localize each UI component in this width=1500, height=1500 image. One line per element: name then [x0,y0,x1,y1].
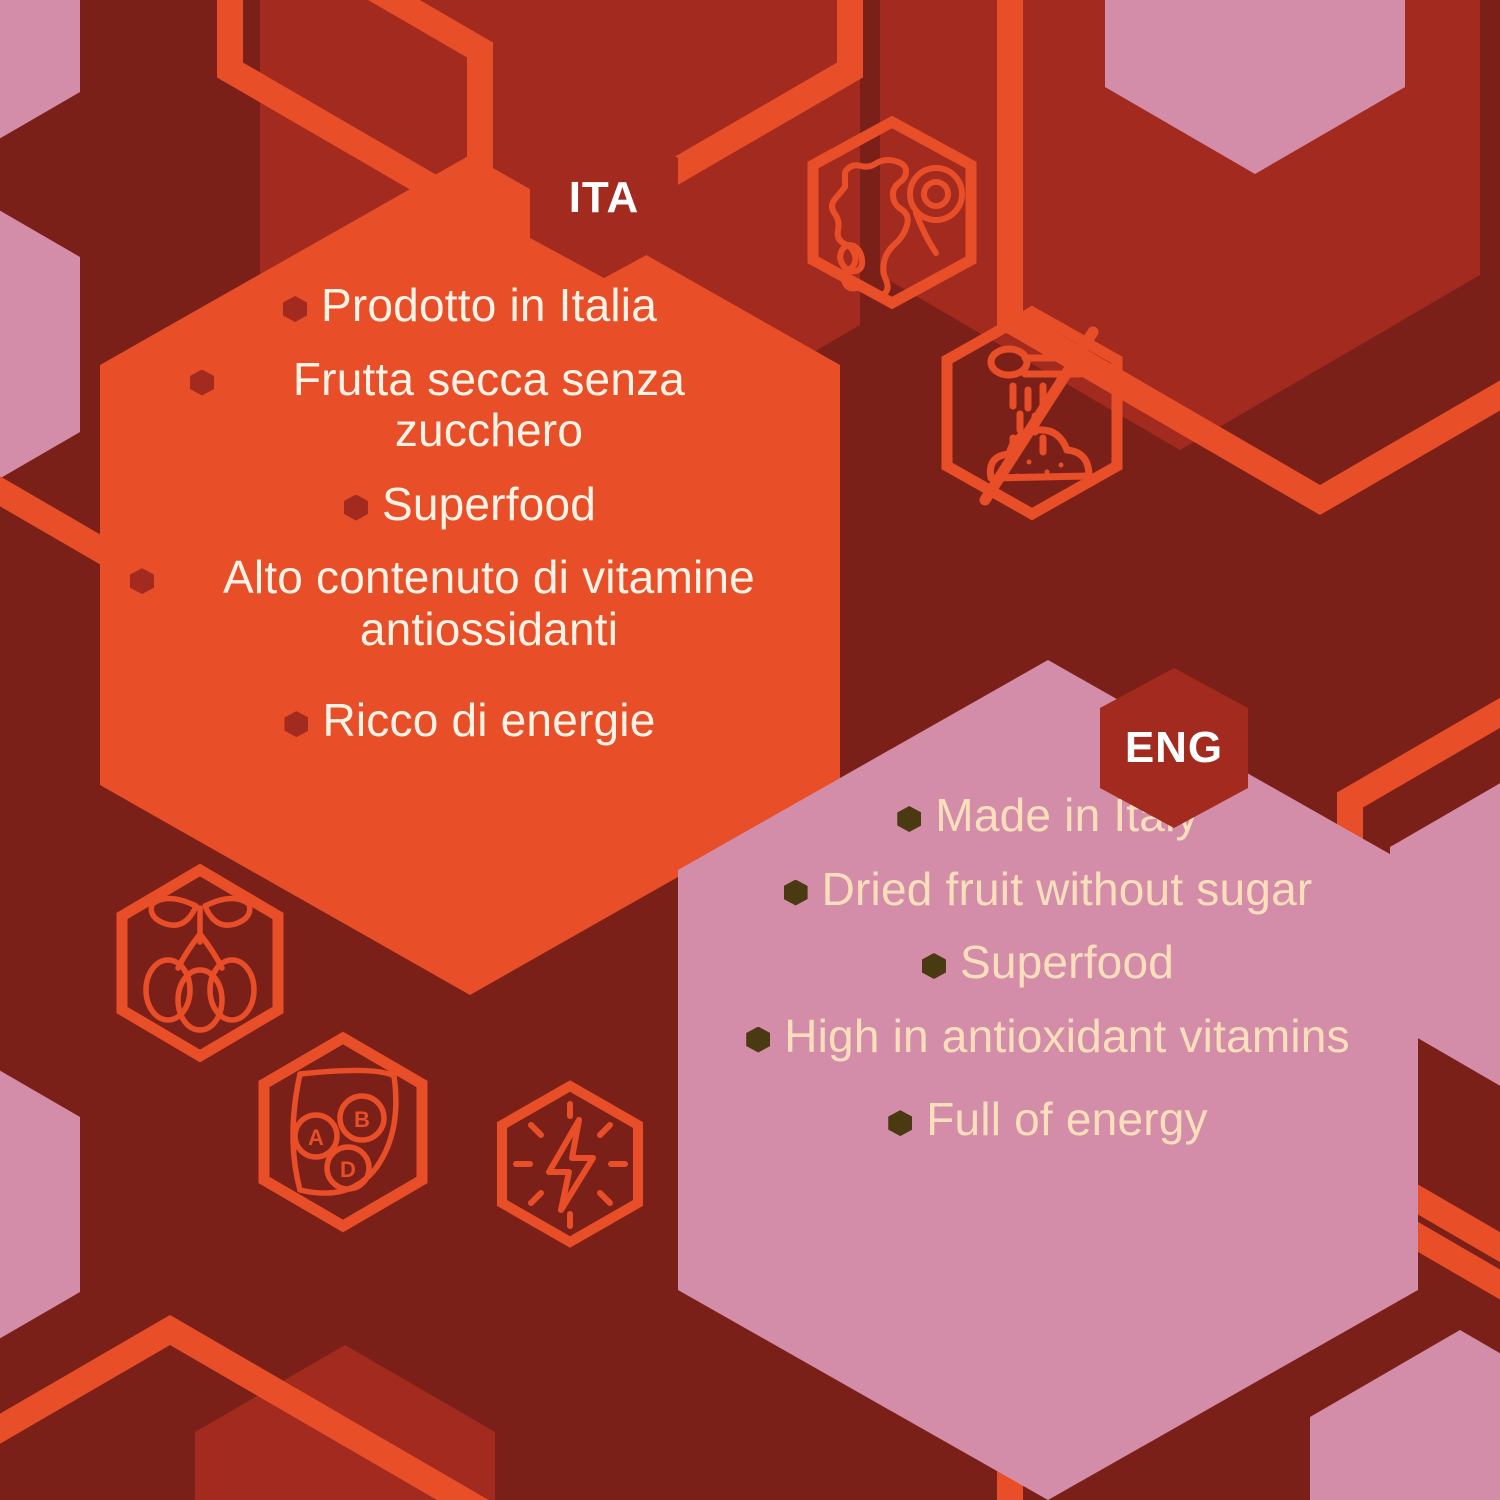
hexagon-bullet-icon [283,296,307,322]
bullet-label: Superfood [960,937,1174,989]
vitamin-letter-a: A [308,1125,324,1150]
list-item: Dried fruit without sugar [784,864,1313,916]
hexagon-bullet-icon [746,1027,770,1053]
list-item: Ricco di energie [284,695,655,747]
list-item: Superfood [344,479,596,531]
hexagon-bullet-icon [897,806,921,832]
hexagon-bullet-icon [922,953,946,979]
hexagon-bullet-icon [784,880,808,906]
bullet-label: High in antioxidant vitamins [784,1011,1350,1063]
hexagon-bullet-icon [130,568,154,594]
list-item: Alto contenuto di vitamine antiossidanti [130,552,810,655]
bullet-label: Prodotto in Italia [321,280,657,332]
energy-bolt-icon [483,1078,658,1258]
bullet-label: Full of energy [926,1094,1208,1146]
bullet-label: Frutta secca senza zucchero [228,354,750,457]
list-item: Superfood [922,937,1174,989]
hexagon-bullet-icon [190,370,214,396]
vitamin-letter-b: B [354,1107,370,1132]
list-item: Frutta secca senza zucchero [190,354,750,457]
vitamins-abd-icon: A B D [238,1028,448,1248]
list-item: Prodotto in Italia [283,280,657,332]
badge-label: ENG [1125,723,1223,773]
infographic-canvas: Prodotto in Italia Frutta secca senza zu… [0,0,1500,1500]
vitamin-letter-d: D [340,1157,356,1182]
hexagon-bullet-icon [888,1110,912,1136]
bullet-label: Dried fruit without sugar [822,864,1313,916]
list-item: Full of energy [888,1094,1208,1146]
italy-map-pin-icon [790,110,995,315]
badge-label: ITA [569,173,640,223]
no-sugar-spoon-icon [925,300,1140,530]
bullet-label: Alto contenuto di vitamine antiossidanti [168,552,810,655]
bullet-label: Ricco di energie [322,695,655,747]
bullet-label: Superfood [382,479,596,531]
hexagon-bullet-icon [344,495,368,521]
hexagon-bullet-icon [284,711,308,737]
list-item: High in antioxidant vitamins [746,1011,1350,1063]
